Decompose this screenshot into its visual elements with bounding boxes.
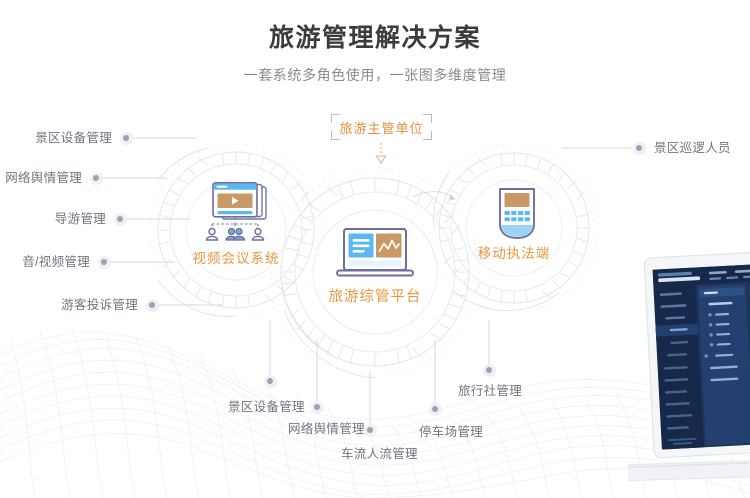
node-caption-video-conference: 视频会议系统 bbox=[166, 247, 306, 267]
authority-badge-label: 旅游主管单位 bbox=[331, 114, 432, 140]
page-title: 旅游管理解决方案 bbox=[0, 22, 750, 54]
connector-dot-bottom-4 bbox=[429, 403, 442, 416]
node-caption-tourism-platform: 旅游综管平台 bbox=[305, 285, 445, 306]
connector-dot-bottom-3 bbox=[364, 424, 377, 437]
solution-diagram-canvas: 旅游管理解决方案 一套系统多角色使用，一张图多维度管理 bbox=[0, 0, 750, 498]
label-audio-video: 音/视频管理 bbox=[0, 254, 90, 270]
page-subtitle: 一套系统多角色使用，一张图多维度管理 bbox=[0, 65, 750, 85]
label-parking-lot: 停车场管理 bbox=[419, 424, 483, 440]
label-network-opinion-bottom: 网络舆情管理 bbox=[288, 421, 365, 437]
connector-dot-left-5 bbox=[146, 299, 159, 312]
label-network-opinion: 网络舆情管理 bbox=[0, 170, 82, 186]
laptop-dashboard-icon bbox=[335, 228, 415, 284]
handheld-terminal-icon bbox=[496, 186, 538, 242]
connector-dot-bottom-1 bbox=[264, 375, 277, 388]
authority-badge[interactable]: 旅游主管单位 bbox=[331, 114, 432, 140]
connector-dot-right-1 bbox=[633, 142, 646, 155]
triangle-down-icon bbox=[374, 143, 388, 165]
connector-dot-bottom-5 bbox=[483, 364, 496, 377]
connector-dot-left-3 bbox=[114, 213, 127, 226]
node-caption-mobile-enforcement: 移动执法端 bbox=[454, 242, 574, 262]
label-scenic-equipment-bottom: 景区设备管理 bbox=[228, 399, 305, 415]
laptop-device-mockup bbox=[628, 252, 750, 498]
video-conference-icon bbox=[199, 182, 273, 244]
connector-dot-left-2 bbox=[90, 172, 103, 185]
connector-dot-bottom-2 bbox=[311, 401, 324, 414]
arrow-head-right bbox=[449, 194, 455, 201]
label-tour-guide: 导游管理 bbox=[0, 211, 106, 227]
label-scenic-equipment: 景区设备管理 bbox=[0, 130, 112, 146]
label-traffic-flow: 车流人流管理 bbox=[341, 446, 418, 462]
connector-dot-left-4 bbox=[98, 256, 111, 269]
label-tourist-complaint: 游客投诉管理 bbox=[0, 297, 138, 313]
arc-center-to-right bbox=[413, 192, 455, 199]
header-block: 旅游管理解决方案 一套系统多角色使用，一张图多维度管理 bbox=[0, 22, 750, 85]
label-scenic-patrol: 景区巡逻人员 bbox=[654, 140, 731, 156]
connector-dot-left-1 bbox=[120, 132, 133, 145]
label-travel-agency: 旅行社管理 bbox=[458, 383, 522, 399]
